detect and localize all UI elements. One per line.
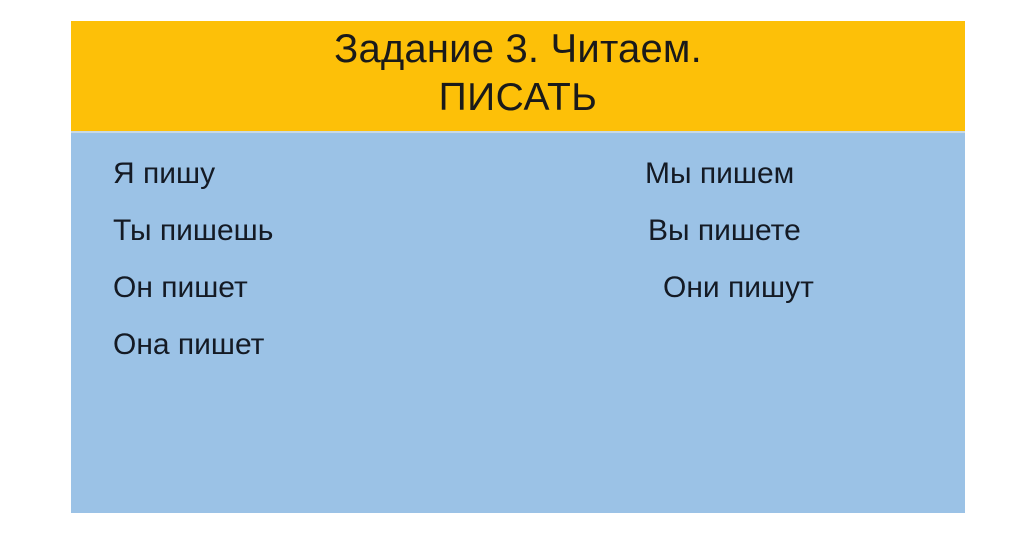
- conjugation-row: Вы пишете: [631, 202, 891, 259]
- slide: Задание 3. Читаем. ПИСАТЬ Я пишу Ты пише…: [71, 21, 965, 513]
- conjugation-table: Я пишу Ты пишешь Он пишет Она пишет Мы п…: [71, 133, 965, 513]
- slide-header: Задание 3. Читаем. ПИСАТЬ: [71, 21, 965, 131]
- conjugation-column-plural: Мы пишем Вы пишете Они пишут: [631, 145, 891, 316]
- slide-title-line-2: ПИСАТЬ: [439, 78, 598, 117]
- slide-body: Я пишу Ты пишешь Он пишет Она пишет Мы п…: [71, 131, 965, 513]
- slide-title-line-1: Задание 3. Читаем.: [334, 29, 702, 69]
- conjugation-row: Он пишет: [113, 259, 273, 316]
- conjugation-column-singular: Я пишу Ты пишешь Он пишет Она пишет: [113, 145, 273, 373]
- conjugation-row: Она пишет: [113, 316, 273, 373]
- conjugation-row: Я пишу: [113, 145, 273, 202]
- conjugation-row: Ты пишешь: [113, 202, 273, 259]
- conjugation-row: Они пишут: [631, 259, 891, 316]
- conjugation-row: Мы пишем: [631, 145, 891, 202]
